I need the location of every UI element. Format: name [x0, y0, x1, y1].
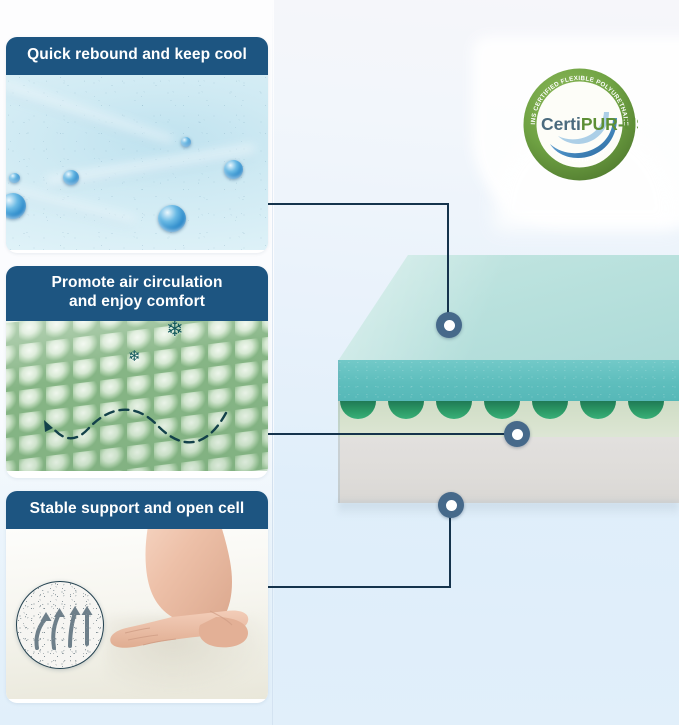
water-droplet: [9, 173, 20, 183]
feature-panel-title-line-1: Promote air circulation: [14, 274, 260, 293]
feature-panel-title-line-2: and enjoy comfort: [14, 293, 260, 312]
water-droplet: [181, 137, 191, 147]
feature-image-foot-on-foam: [6, 529, 268, 699]
feature-panel-title-air-circulation: Promote air circulation and enjoy comfor…: [6, 266, 268, 321]
feature-panel-title-quick-rebound: Quick rebound and keep cool: [6, 37, 268, 75]
feature-panel-quick-rebound[interactable]: Quick rebound and keep cool: [6, 37, 268, 253]
connector-line-panel-1-horizontal: [268, 203, 449, 205]
water-droplet: [224, 160, 243, 179]
connector-line-panel-2-horizontal: [268, 433, 518, 435]
open-cell-magnifier: [16, 581, 104, 669]
marker-dot-support-base-layer[interactable]: [438, 492, 464, 518]
background-divider: [272, 0, 273, 725]
mattress-top-highlight: [338, 255, 679, 361]
connector-line-panel-1-vertical: [447, 203, 449, 325]
mattress-drop-shadow: [338, 501, 679, 517]
mattress-egg-crate-scallops: [338, 401, 679, 421]
certipur-us-seal: CONTAINS CERTIFIED FLEXIBLE POLYURETHANE…: [521, 66, 638, 183]
feature-image-blue-foam-droplets: [6, 75, 268, 250]
snowflake-icon: ❄: [166, 321, 184, 340]
airflow-arrow: [26, 399, 236, 449]
water-droplet: [63, 170, 79, 185]
feature-panel-air-circulation[interactable]: Promote air circulation and enjoy comfor…: [6, 266, 268, 478]
seal-brand-text: CertiPUR-US®: [541, 114, 638, 134]
feature-panel-title-stable-support: Stable support and open cell: [6, 491, 268, 529]
foot-illustration: [98, 529, 258, 660]
open-cell-airflow-arrows: [17, 582, 104, 669]
infographic-canvas: Quick rebound and keep cool Promote air …: [0, 0, 679, 725]
water-droplet: [158, 205, 186, 232]
mattress-left-edge: [338, 360, 340, 503]
marker-dot-airflow-layer[interactable]: [504, 421, 530, 447]
mattress-layer-support-base: [338, 437, 679, 503]
marker-dot-cooling-gel-layer[interactable]: [436, 312, 462, 338]
feature-image-egg-crate-foam: ❄ ❄: [6, 321, 268, 471]
mattress-layer-cooling-gel: [338, 360, 679, 401]
feature-panel-stable-support[interactable]: Stable support and open cell: [6, 491, 268, 703]
snowflake-icon: ❄: [128, 349, 141, 364]
connector-line-panel-3-horizontal: [268, 586, 451, 588]
mattress-cutaway-illustration: [338, 255, 679, 505]
